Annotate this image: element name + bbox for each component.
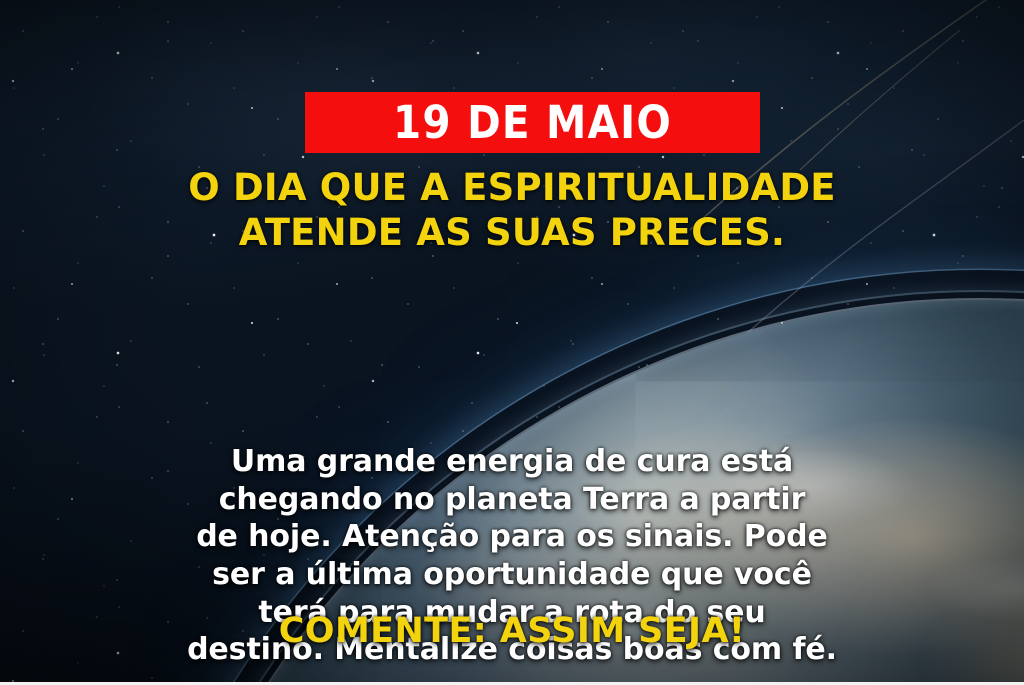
body-line-1: Uma grande energia de cura está bbox=[52, 443, 972, 481]
date-banner-text: 19 DE MAIO bbox=[393, 100, 672, 145]
body-line-3: de hoje. Atenção para os sinais. Pode bbox=[52, 518, 972, 556]
headline: O DIA QUE A ESPIRITUALIDADE ATENDE AS SU… bbox=[0, 166, 1024, 256]
call-to-action: COMENTE: ASSIM SEJA! bbox=[0, 612, 1024, 651]
body-line-2: chegando no planeta Terra a partir bbox=[52, 481, 972, 519]
poster-content: 19 DE MAIO O DIA QUE A ESPIRITUALIDADE A… bbox=[0, 0, 1024, 685]
headline-line-2: ATENDE AS SUAS PRECES. bbox=[36, 211, 988, 256]
headline-line-1: O DIA QUE A ESPIRITUALIDADE bbox=[36, 166, 988, 211]
date-banner: 19 DE MAIO bbox=[305, 92, 760, 153]
call-to-action-text: COMENTE: ASSIM SEJA! bbox=[279, 611, 746, 651]
poster-canvas: 19 DE MAIO O DIA QUE A ESPIRITUALIDADE A… bbox=[0, 0, 1024, 685]
body-line-4: ser a última oportunidade que você bbox=[52, 556, 972, 594]
